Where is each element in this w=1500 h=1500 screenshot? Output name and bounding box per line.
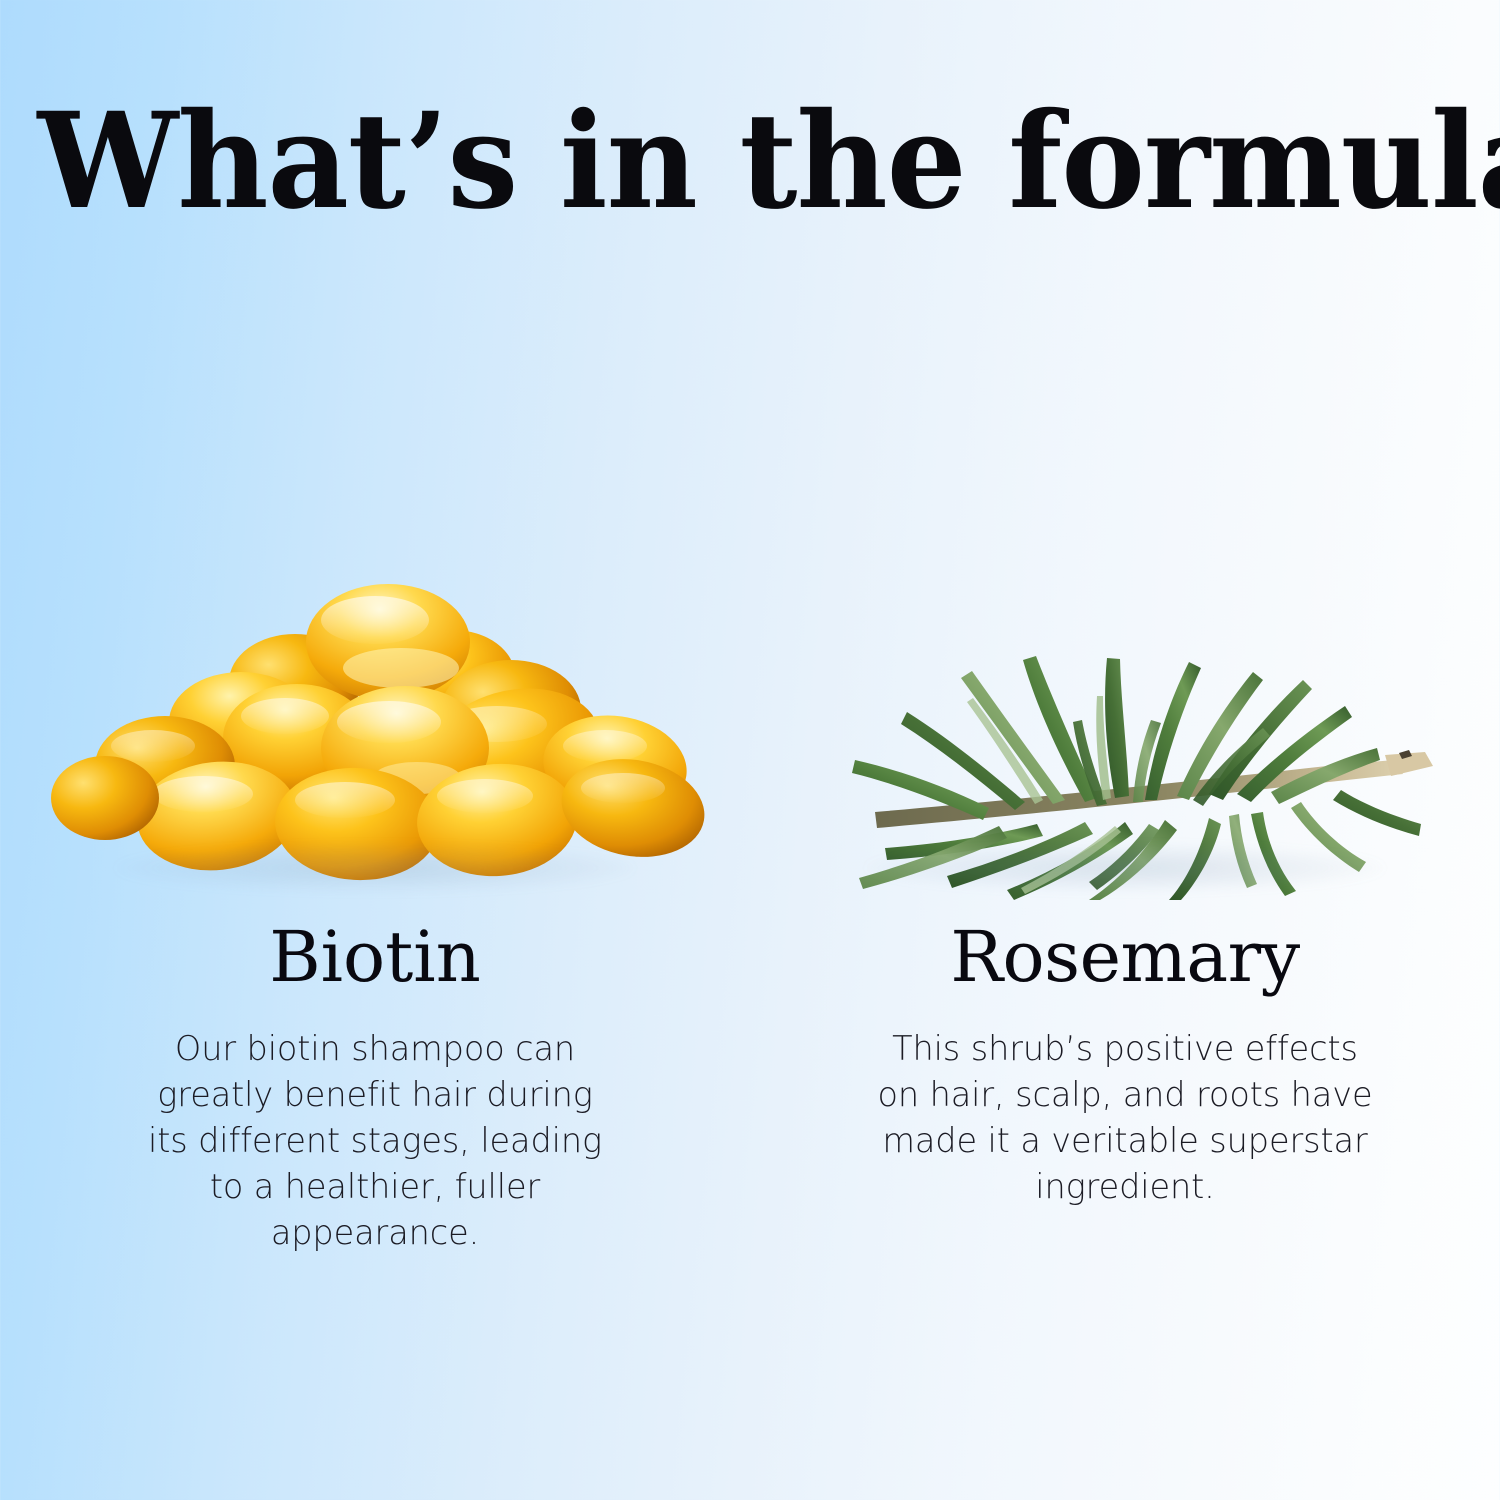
ingredients-row: Biotin Our biotin shampoo can greatly be… bbox=[0, 520, 1500, 1255]
rosemary-sprig-illustration bbox=[785, 550, 1465, 900]
rosemary-sprig-photo bbox=[775, 520, 1475, 900]
ingredient-name-biotin: Biotin bbox=[269, 922, 481, 992]
ingredient-name-rosemary: Rosemary bbox=[950, 922, 1299, 992]
ingredient-description-rosemary: This shrub’s positive effects on hair, s… bbox=[870, 1026, 1380, 1210]
biotin-capsules-illustration bbox=[45, 570, 705, 900]
ingredient-infographic-page: { "page": { "title": "What\u2019s in the… bbox=[0, 0, 1500, 1500]
ingredient-card-rosemary: Rosemary This shrub’s positive effects o… bbox=[750, 520, 1500, 1255]
biotin-capsules-photo bbox=[25, 520, 725, 900]
page-title-container: What’s in the formula? bbox=[0, 96, 1500, 228]
ingredient-card-biotin: Biotin Our biotin shampoo can greatly be… bbox=[0, 520, 750, 1255]
page-title: What’s in the formula? bbox=[38, 96, 1463, 228]
ingredient-description-biotin: Our biotin shampoo can greatly benefit h… bbox=[140, 1026, 610, 1255]
